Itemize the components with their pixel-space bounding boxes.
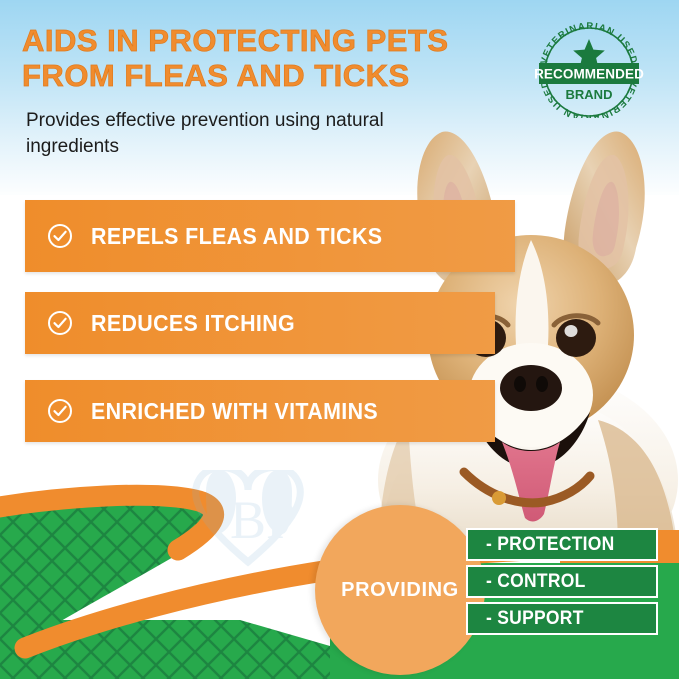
- providing-item-label: - SUPPORT: [486, 608, 584, 630]
- feature-bar-enriched-with-vitamins[interactable]: ENRICHED WITH VITAMINS: [25, 380, 495, 442]
- badge-brand-label: BRAND: [566, 87, 613, 102]
- page-title: AIDS IN PROTECTING PETS FROM FLEAS AND T…: [22, 24, 492, 93]
- heart-pets-logo-icon: BP: [196, 470, 301, 562]
- providing-item-label: - CONTROL: [486, 571, 586, 593]
- providing-item-control[interactable]: - CONTROL: [466, 565, 658, 598]
- feature-bar-reduces-itching[interactable]: REDUCES ITCHING: [25, 292, 495, 354]
- dog-eye-right-highlight: [565, 325, 578, 337]
- check-circle-icon: [47, 223, 73, 249]
- providing-item-label: - PROTECTION: [486, 534, 615, 556]
- dog-nostril-left: [514, 376, 526, 392]
- watermark-letters: BP: [230, 490, 296, 550]
- providing-list: - PROTECTION - CONTROL - SUPPORT: [466, 528, 658, 639]
- badge-banner-label: RECOMMENDED: [534, 67, 644, 82]
- providing-item-support[interactable]: - SUPPORT: [466, 602, 658, 635]
- feature-label: REDUCES ITCHING: [91, 310, 295, 337]
- dog-nostril-right: [536, 376, 548, 392]
- product-infographic: AIDS IN PROTECTING PETS FROM FLEAS AND T…: [0, 0, 679, 679]
- feature-bar-repels-fleas-and-ticks[interactable]: REPELS FLEAS AND TICKS: [25, 200, 515, 272]
- check-circle-icon: [47, 398, 73, 424]
- dog-nose: [500, 365, 562, 411]
- providing-circle: PROVIDING: [315, 505, 485, 675]
- feature-label: REPELS FLEAS AND TICKS: [91, 223, 382, 250]
- providing-item-protection[interactable]: - PROTECTION: [466, 528, 658, 561]
- dog-eye-right: [556, 319, 596, 357]
- check-circle-icon: [47, 310, 73, 336]
- feature-label: ENRICHED WITH VITAMINS: [91, 398, 378, 425]
- providing-label: PROVIDING: [341, 579, 459, 602]
- veterinarian-recommended-badge: RECOMMENDED BRAND VETERINARIAN USED VETE…: [528, 18, 650, 118]
